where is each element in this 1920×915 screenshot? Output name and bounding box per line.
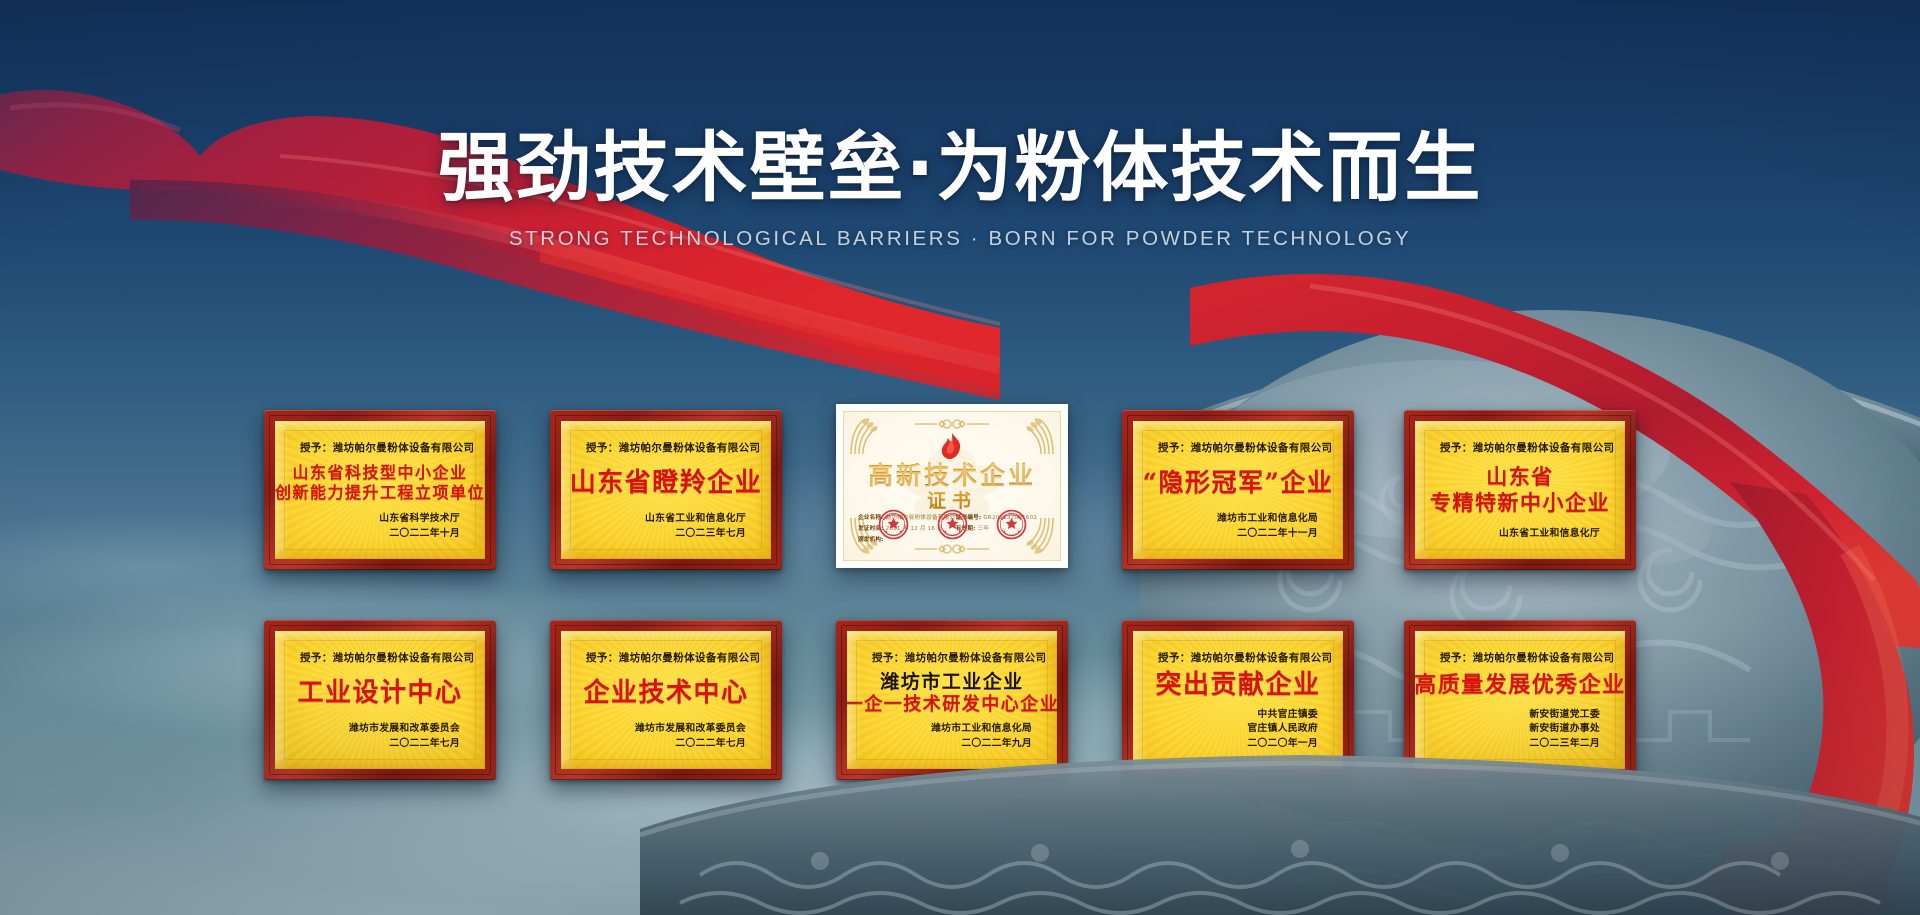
award-plaque[interactable]: 授予：潍坊帕尔曼粉体设备有限公司 企业技术中心 潍坊市发展和改革委员会二〇二二年… [550, 620, 782, 780]
plaque-frame: 授予：潍坊帕尔曼粉体设备有限公司 “隐形冠军”企业 潍坊市工业和信息化局二〇二二… [1122, 410, 1354, 570]
plaque-issuer-line: 潍坊市工业和信息化局 [1154, 512, 1318, 526]
plaque-issuer-line: 中共官庄镇委 [1154, 708, 1318, 722]
plaque-gold-plate: 授予：潍坊帕尔曼粉体设备有限公司 山东省科技型中小企业创新能力提升工程立项单位 … [275, 421, 485, 559]
plaque-issuer-line: 二〇二二年十月 [296, 527, 460, 541]
plaque-awardee: 授予：潍坊帕尔曼粉体设备有限公司 [582, 440, 750, 455]
plaque-title-line: 工业设计中心 [297, 678, 462, 709]
plaque-awardee: 授予：潍坊帕尔曼粉体设备有限公司 [582, 650, 750, 665]
plaque-frame: 授予：潍坊帕尔曼粉体设备有限公司 工业设计中心 潍坊市发展和改革委员会二〇二二年… [264, 620, 496, 780]
plaque-awardee: 授予：潍坊帕尔曼粉体设备有限公司 [1154, 440, 1322, 455]
plaque-awardee: 授予：潍坊帕尔曼粉体设备有限公司 [1436, 440, 1604, 455]
certificate-seals [844, 509, 1060, 540]
plaque-issuer-line: 新安街道办事处 [1436, 722, 1600, 736]
plaque-frame: 授予：潍坊帕尔曼粉体设备有限公司 高质量发展优秀企业 新安街道党工委新安街道办事… [1404, 620, 1636, 780]
plaque-title-line: 一企一技术研发中心企业 [847, 694, 1057, 715]
plaque-issuer: 山东省工业和信息化厅 [1436, 527, 1604, 541]
plaque-title-group: 高质量发展优秀企业 [1436, 665, 1604, 708]
plaque-issuer: 潍坊市发展和改革委员会二〇二二年七月 [582, 722, 750, 751]
plaque-issuer-line: 二〇二三年二月 [1436, 737, 1600, 751]
plaque-issuer-line: 二〇二二年十一月 [1154, 527, 1318, 541]
award-plaque[interactable]: 授予：潍坊帕尔曼粉体设备有限公司 潍坊市工业企业一企一技术研发中心企业 潍坊市工… [836, 620, 1068, 780]
plaque-issuer: 山东省工业和信息化厅二〇二三年七月 [582, 512, 750, 541]
plaque-issuer-line: 新安街道党工委 [1436, 708, 1600, 722]
award-plaque[interactable]: 授予：潍坊帕尔曼粉体设备有限公司 山东省科技型中小企业创新能力提升工程立项单位 … [264, 410, 496, 570]
plaque-title-line: “隐形冠军”企业 [1143, 468, 1334, 498]
plaque-gold-plate: 授予：潍坊帕尔曼粉体设备有限公司 山东省专精特新中小企业 山东省工业和信息化厅 [1415, 421, 1625, 559]
plaque-issuer-line: 官庄镇人民政府 [1154, 722, 1318, 736]
plaque-issuer-line: 山东省工业和信息化厅 [1436, 527, 1600, 541]
plaque-issuer: 中共官庄镇委官庄镇人民政府二〇二〇年一月 [1154, 708, 1322, 751]
plaque-frame: 授予：潍坊帕尔曼粉体设备有限公司 山东省瞪羚企业 山东省工业和信息化厅二〇二三年… [550, 410, 782, 570]
plaque-issuer-line: 二〇二二年九月 [868, 737, 1032, 751]
plaque-title-group: 山东省瞪羚企业 [582, 455, 750, 512]
plaque-gold-plate: 授予：潍坊帕尔曼粉体设备有限公司 企业技术中心 潍坊市发展和改革委员会二〇二二年… [561, 631, 771, 769]
plaque-title-line: 山东省瞪羚企业 [570, 468, 763, 499]
plaque-title-line: 山东省科技型中小企业 [293, 464, 468, 483]
plaque-issuer: 潍坊市工业和信息化局二〇二二年九月 [868, 722, 1036, 751]
plaque-title-line: 企业技术中心 [583, 678, 748, 709]
plaque-title-group: 山东省科技型中小企业创新能力提升工程立项单位 [296, 455, 464, 512]
plaque-awardee: 授予：潍坊帕尔曼粉体设备有限公司 [1154, 650, 1322, 665]
plaque-frame: 授予：潍坊帕尔曼粉体设备有限公司 突出贡献企业 中共官庄镇委官庄镇人民政府二〇二… [1122, 620, 1354, 780]
plaque-title-line: 潍坊市工业企业 [880, 671, 1024, 693]
plaque-gold-plate: 授予：潍坊帕尔曼粉体设备有限公司 潍坊市工业企业一企一技术研发中心企业 潍坊市工… [847, 631, 1057, 769]
plaque-frame: 授予：潍坊帕尔曼粉体设备有限公司 潍坊市工业企业一企一技术研发中心企业 潍坊市工… [836, 620, 1068, 780]
plaque-title-group: 潍坊市工业企业一企一技术研发中心企业 [868, 665, 1036, 722]
award-plaque[interactable]: 授予：潍坊帕尔曼粉体设备有限公司 工业设计中心 潍坊市发展和改革委员会二〇二二年… [264, 620, 496, 780]
plaque-issuer: 潍坊市工业和信息化局二〇二二年十一月 [1154, 512, 1322, 541]
plaque-title-group: 企业技术中心 [582, 665, 750, 722]
seal-stamp-icon [937, 509, 968, 540]
plaque-gold-plate: 授予：潍坊帕尔曼粉体设备有限公司 突出贡献企业 中共官庄镇委官庄镇人民政府二〇二… [1133, 631, 1343, 769]
plaque-title-line: 突出贡献企业 [1155, 670, 1320, 701]
plaque-title-line: 高质量发展优秀企业 [1415, 673, 1625, 699]
plaque-gold-plate: 授予：潍坊帕尔曼粉体设备有限公司 “隐形冠军”企业 潍坊市工业和信息化局二〇二二… [1133, 421, 1343, 559]
banner-stage: 强劲技术壁垒·为粉体技术而生 STRONG TECHNOLOGICAL BARR… [0, 0, 1920, 915]
plaque-title-group: 工业设计中心 [296, 665, 464, 722]
plaque-issuer-line: 二〇二〇年一月 [1154, 737, 1318, 751]
plaque-issuer-line: 潍坊市发展和改革委员会 [296, 722, 460, 736]
award-plaque[interactable]: 授予：潍坊帕尔曼粉体设备有限公司 “隐形冠军”企业 潍坊市工业和信息化局二〇二二… [1122, 410, 1354, 570]
plaque-issuer-line: 山东省科学技术厅 [296, 512, 460, 526]
plaque-frame: 授予：潍坊帕尔曼粉体设备有限公司 企业技术中心 潍坊市发展和改革委员会二〇二二年… [550, 620, 782, 780]
plaque-issuer-line: 二〇二二年七月 [296, 737, 460, 751]
plaque-issuer-line: 二〇二三年七月 [582, 527, 746, 541]
plaque-issuer-line: 潍坊市发展和改革委员会 [582, 722, 746, 736]
award-plaque[interactable]: 授予：潍坊帕尔曼粉体设备有限公司 突出贡献企业 中共官庄镇委官庄镇人民政府二〇二… [1122, 620, 1354, 780]
plaque-awardee: 授予：潍坊帕尔曼粉体设备有限公司 [868, 650, 1036, 665]
plaque-issuer: 潍坊市发展和改革委员会二〇二二年七月 [296, 722, 464, 751]
plaque-gold-plate: 授予：潍坊帕尔曼粉体设备有限公司 高质量发展优秀企业 新安街道党工委新安街道办事… [1415, 631, 1625, 769]
plaque-title-group: 山东省专精特新中小企业 [1436, 455, 1604, 527]
plaque-gold-plate: 授予：潍坊帕尔曼粉体设备有限公司 山东省瞪羚企业 山东省工业和信息化厅二〇二三年… [561, 421, 771, 559]
plaque-issuer: 山东省科学技术厅二〇二二年十月 [296, 512, 464, 541]
plaque-title-group: 突出贡献企业 [1154, 665, 1322, 708]
plaque-issuer-line: 山东省工业和信息化厅 [582, 512, 746, 526]
plaque-issuer-line: 潍坊市工业和信息化局 [868, 722, 1032, 736]
plaque-awardee: 授予：潍坊帕尔曼粉体设备有限公司 [296, 440, 464, 455]
plaque-title-line: 创新能力提升工程立项单位 [275, 484, 485, 503]
plaque-title-line: 专精特新中小企业 [1430, 491, 1610, 516]
plaque-issuer-line: 二〇二二年七月 [582, 737, 746, 751]
plaque-gold-plate: 授予：潍坊帕尔曼粉体设备有限公司 工业设计中心 潍坊市发展和改革委员会二〇二二年… [275, 631, 485, 769]
award-plaque[interactable]: 授予：潍坊帕尔曼粉体设备有限公司 高质量发展优秀企业 新安街道党工委新安街道办事… [1404, 620, 1636, 780]
award-plaque[interactable]: 授予：潍坊帕尔曼粉体设备有限公司 山东省瞪羚企业 山东省工业和信息化厅二〇二三年… [550, 410, 782, 570]
seal-stamp-icon [996, 509, 1027, 540]
award-plaque[interactable]: 授予：潍坊帕尔曼粉体设备有限公司 山东省专精特新中小企业 山东省工业和信息化厅 [1404, 410, 1636, 570]
plaque-frame: 授予：潍坊帕尔曼粉体设备有限公司 山东省专精特新中小企业 山东省工业和信息化厅 [1404, 410, 1636, 570]
plaque-issuer: 新安街道党工委新安街道办事处二〇二三年二月 [1436, 708, 1604, 751]
plaque-frame: 授予：潍坊帕尔曼粉体设备有限公司 山东省科技型中小企业创新能力提升工程立项单位 … [264, 410, 496, 570]
seal-stamp-icon [878, 509, 909, 540]
plaque-title-group: “隐形冠军”企业 [1154, 455, 1322, 512]
plaque-awardee: 授予：潍坊帕尔曼粉体设备有限公司 [296, 650, 464, 665]
plaque-title-line: 山东省 [1486, 465, 1554, 490]
plaque-awardee: 授予：潍坊帕尔曼粉体设备有限公司 [1436, 650, 1604, 665]
